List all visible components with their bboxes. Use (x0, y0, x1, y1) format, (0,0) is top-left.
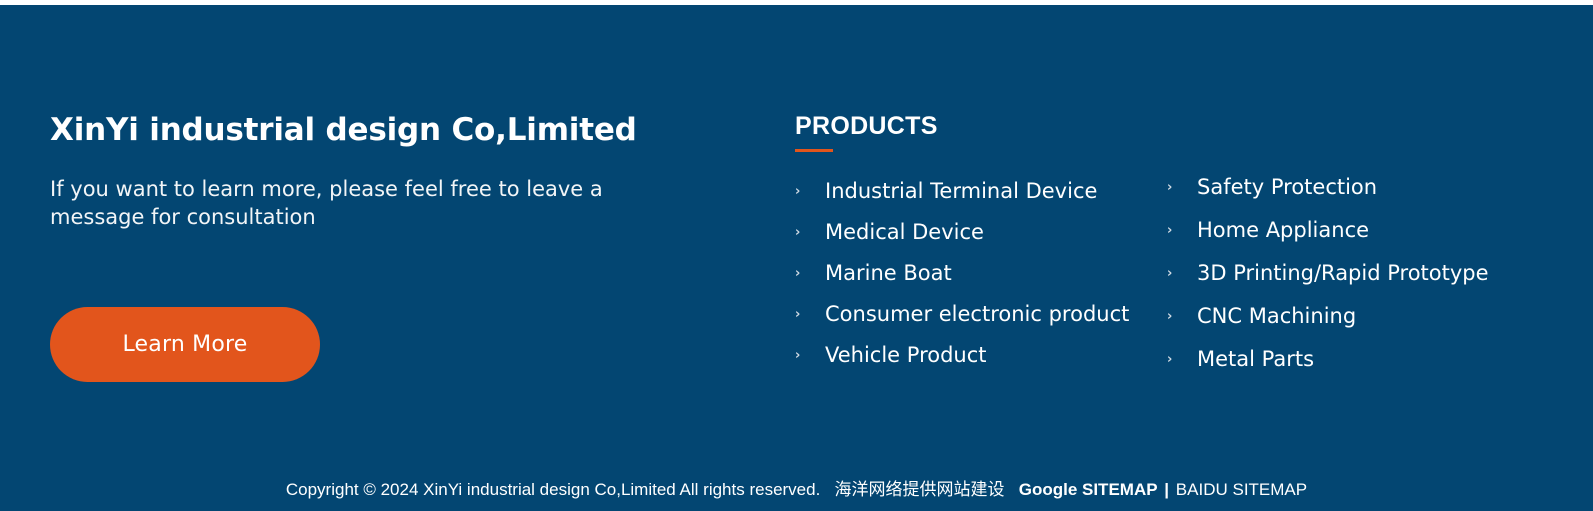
product-link-marine-boat[interactable]: › Marine Boat (795, 262, 1167, 285)
product-link-3d-printing-rapid-prototype[interactable]: › 3D Printing/Rapid Prototype (1167, 262, 1537, 285)
company-title: XinYi industrial design Co,Limited (50, 113, 710, 147)
google-sitemap-link[interactable]: Google SITEMAP (1019, 480, 1158, 499)
product-column-2: › Safety Protection › Home Appliance › 3… (1167, 176, 1537, 391)
product-label: Industrial Terminal Device (825, 180, 1097, 203)
learn-more-button[interactable]: Learn More (50, 307, 320, 382)
product-label: Marine Boat (825, 262, 952, 285)
sitemap-divider: | (1162, 480, 1171, 499)
product-label: Vehicle Product (825, 344, 987, 367)
site-footer: XinYi industrial design Co,Limited If yo… (0, 5, 1593, 511)
chevron-right-icon: › (795, 308, 825, 321)
copyright-bar: Copyright © 2024 XinYi industrial design… (0, 475, 1593, 500)
product-link-consumer-electronic-product[interactable]: › Consumer electronic product (795, 303, 1167, 326)
heading-underline-accent (795, 149, 833, 152)
product-link-safety-protection[interactable]: › Safety Protection (1167, 176, 1537, 199)
chevron-right-icon: › (1167, 310, 1197, 323)
site-builder-link[interactable]: 海洋网络提供网站建设 (835, 480, 1005, 499)
products-block: PRODUCTS › Industrial Terminal Device › … (795, 113, 1555, 391)
baidu-sitemap-link[interactable]: BAIDU SITEMAP (1176, 480, 1307, 499)
product-label: 3D Printing/Rapid Prototype (1197, 262, 1489, 285)
product-label: CNC Machining (1197, 305, 1356, 328)
product-link-home-appliance[interactable]: › Home Appliance (1167, 219, 1537, 242)
chevron-right-icon: › (795, 226, 825, 239)
product-label: Metal Parts (1197, 348, 1314, 371)
chevron-right-icon: › (1167, 267, 1197, 280)
chevron-right-icon: › (1167, 224, 1197, 237)
product-label: Medical Device (825, 221, 984, 244)
company-info-block: XinYi industrial design Co,Limited If yo… (50, 113, 710, 232)
product-link-medical-device[interactable]: › Medical Device (795, 221, 1167, 244)
product-link-cnc-machining[interactable]: › CNC Machining (1167, 305, 1537, 328)
product-label: Consumer electronic product (825, 303, 1129, 326)
products-heading: PRODUCTS (795, 113, 1555, 141)
product-link-vehicle-product[interactable]: › Vehicle Product (795, 344, 1167, 367)
chevron-right-icon: › (795, 267, 825, 280)
chevron-right-icon: › (795, 185, 825, 198)
copyright-text: Copyright © 2024 XinYi industrial design… (286, 480, 820, 499)
company-tagline: If you want to learn more, please feel f… (50, 175, 650, 232)
chevron-right-icon: › (1167, 181, 1197, 194)
product-column-1: › Industrial Terminal Device › Medical D… (795, 176, 1167, 385)
product-columns: › Industrial Terminal Device › Medical D… (795, 176, 1555, 391)
product-label: Home Appliance (1197, 219, 1369, 242)
chevron-right-icon: › (1167, 353, 1197, 366)
product-link-industrial-terminal-device[interactable]: › Industrial Terminal Device (795, 180, 1167, 203)
chevron-right-icon: › (795, 349, 825, 362)
product-link-metal-parts[interactable]: › Metal Parts (1167, 348, 1537, 371)
product-label: Safety Protection (1197, 176, 1377, 199)
